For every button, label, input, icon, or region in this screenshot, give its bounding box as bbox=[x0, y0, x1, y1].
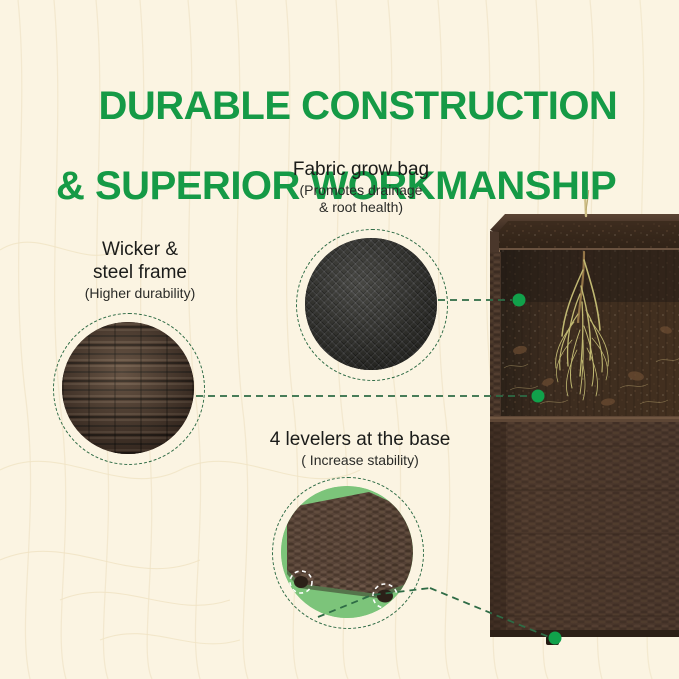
callout-fabric-title: Fabric grow bag bbox=[252, 158, 470, 181]
callout-wicker: Wicker & steel frame (Higher durability) bbox=[42, 238, 238, 302]
wicker-detail-circle bbox=[62, 322, 194, 454]
leveler-foot-right bbox=[377, 590, 393, 603]
callout-levelers: 4 levelers at the base ( Increase stabil… bbox=[228, 428, 492, 469]
leveler-foot bbox=[546, 636, 559, 645]
page-title-line-1: DURABLE CONSTRUCTION bbox=[98, 84, 617, 128]
callout-fabric: Fabric grow bag (Promotes drainage & roo… bbox=[252, 158, 470, 216]
leveler-foot-left bbox=[294, 576, 308, 588]
infographic-canvas: DURABLE CONSTRUCTION & SUPERIOR WORKMANS… bbox=[0, 0, 679, 679]
callout-levelers-subtitle: ( Increase stability) bbox=[228, 452, 492, 469]
callout-fabric-subtitle: (Promotes drainage & root health) bbox=[252, 182, 470, 216]
callout-levelers-title: 4 levelers at the base bbox=[228, 428, 492, 451]
callout-wicker-subtitle: (Higher durability) bbox=[42, 285, 238, 302]
wicker-body bbox=[490, 416, 679, 637]
callout-wicker-title: Wicker & steel frame bbox=[42, 238, 238, 284]
wicker-vignette bbox=[62, 322, 194, 454]
levelers-detail-art bbox=[281, 486, 413, 618]
levelers-detail-circle bbox=[281, 486, 413, 618]
